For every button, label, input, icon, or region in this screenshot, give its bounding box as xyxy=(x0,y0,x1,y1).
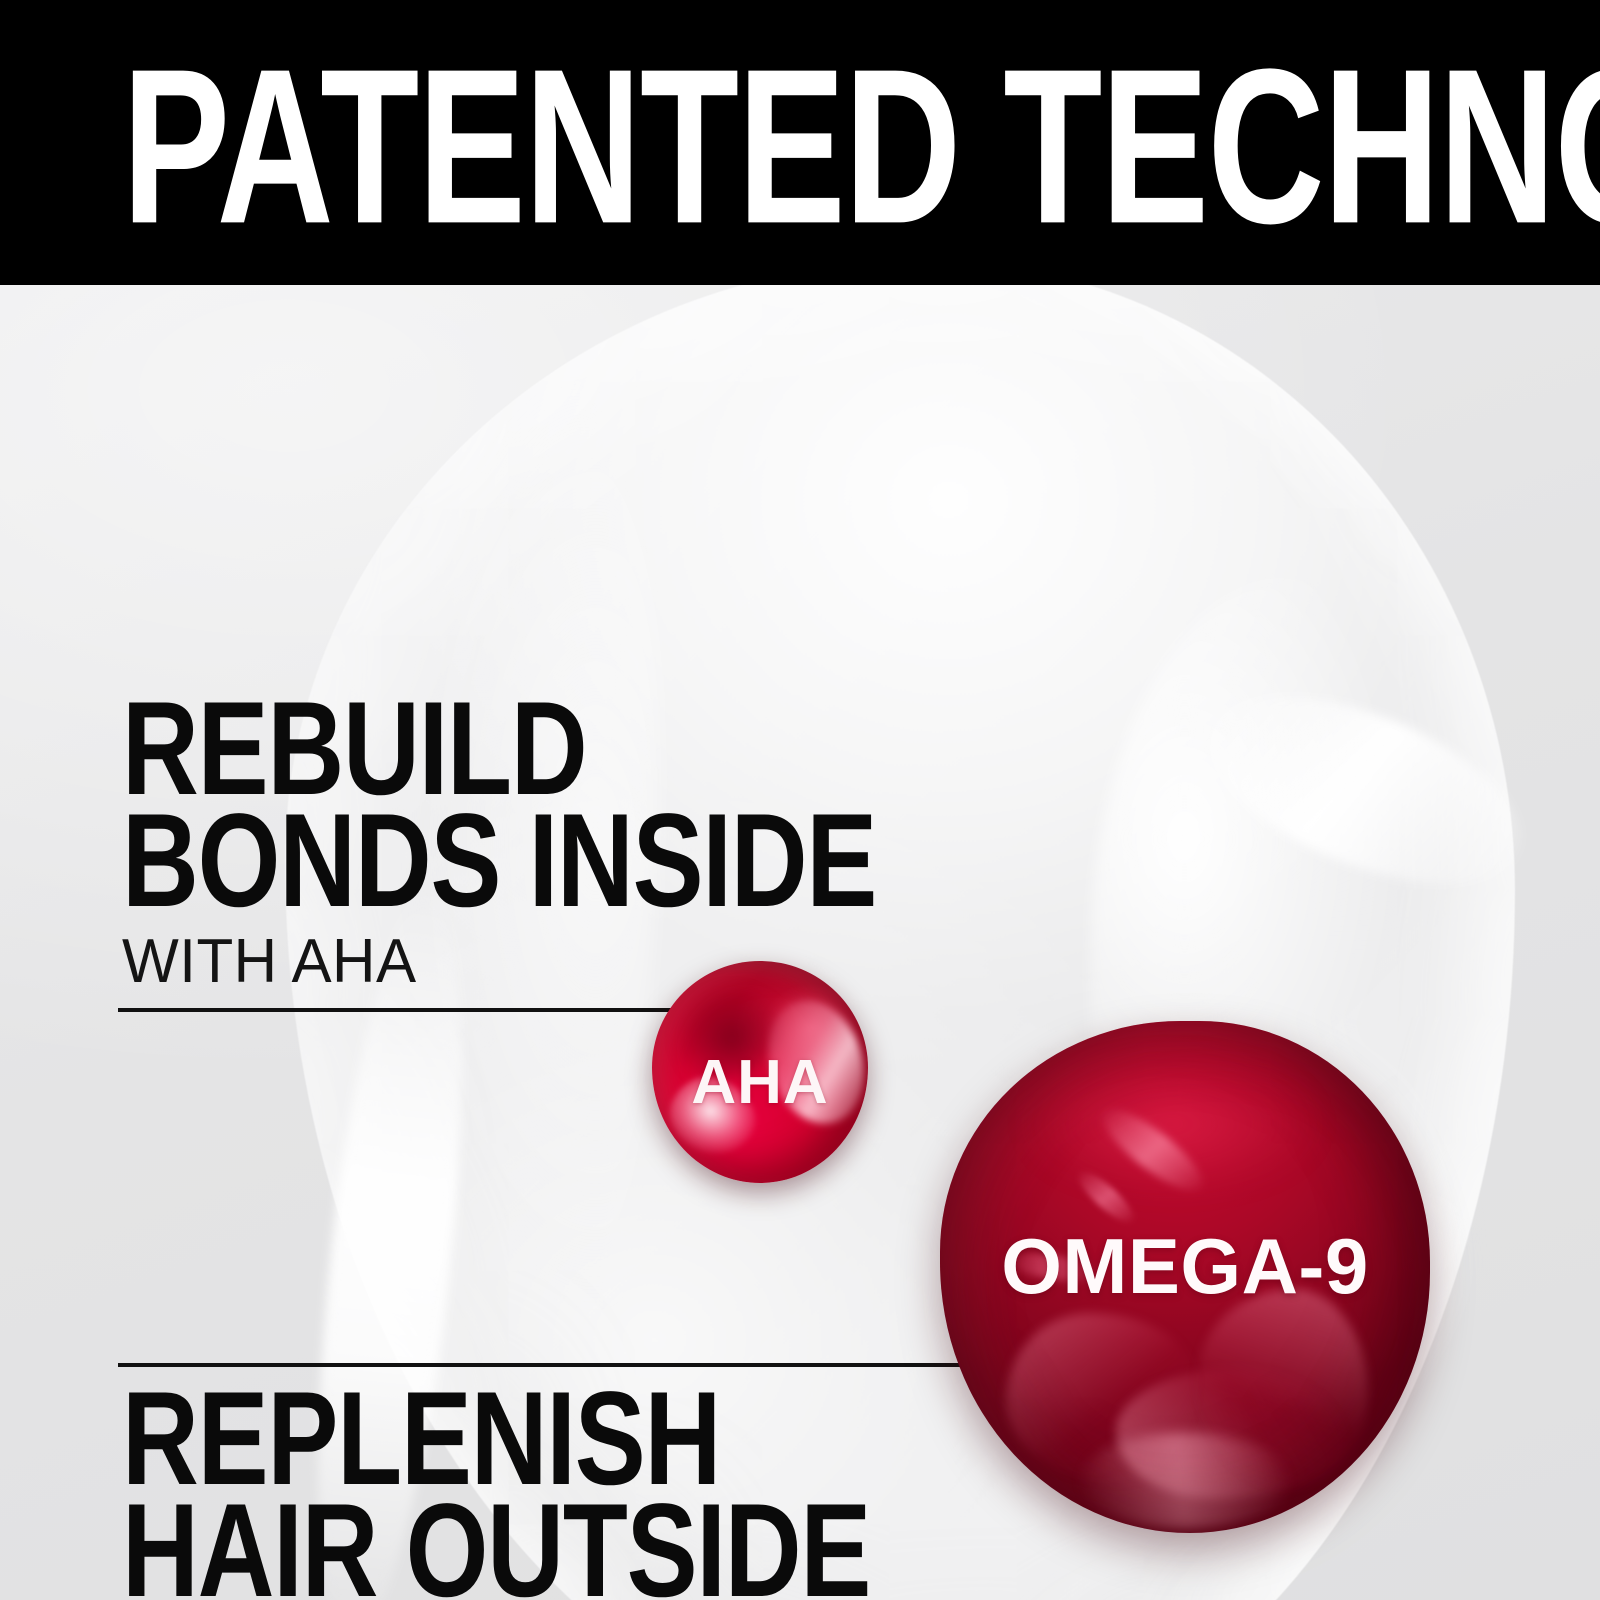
benefit-headline-line-2: HAIR OUTSIDE xyxy=(122,1495,870,1600)
product-claim-image: PATENTED TECHNOLOGY AHA xyxy=(0,0,1600,1600)
omega9-droplet-label: OMEGA-9 xyxy=(940,1221,1430,1312)
benefit-block-replenish: REPLENISH HAIR OUTSIDE WITH OMEGA-9 xyxy=(122,1383,1057,1600)
header-bar: PATENTED TECHNOLOGY xyxy=(0,0,1600,285)
benefit-headline-line-2: BONDS INSIDE xyxy=(122,805,876,917)
benefit-block-rebuild: REBUILD BONDS INSIDE WITH AHA xyxy=(122,693,1065,997)
page-title: PATENTED TECHNOLOGY xyxy=(122,57,1600,237)
benefit-subline: WITH AHA xyxy=(122,917,1036,997)
product-visual-area: AHA OMEGA-9 REBUILD BONDS INSIDE WITH AH… xyxy=(0,285,1600,1600)
connector-line-aha xyxy=(118,1008,680,1012)
aha-droplet-label: AHA xyxy=(652,1047,868,1118)
